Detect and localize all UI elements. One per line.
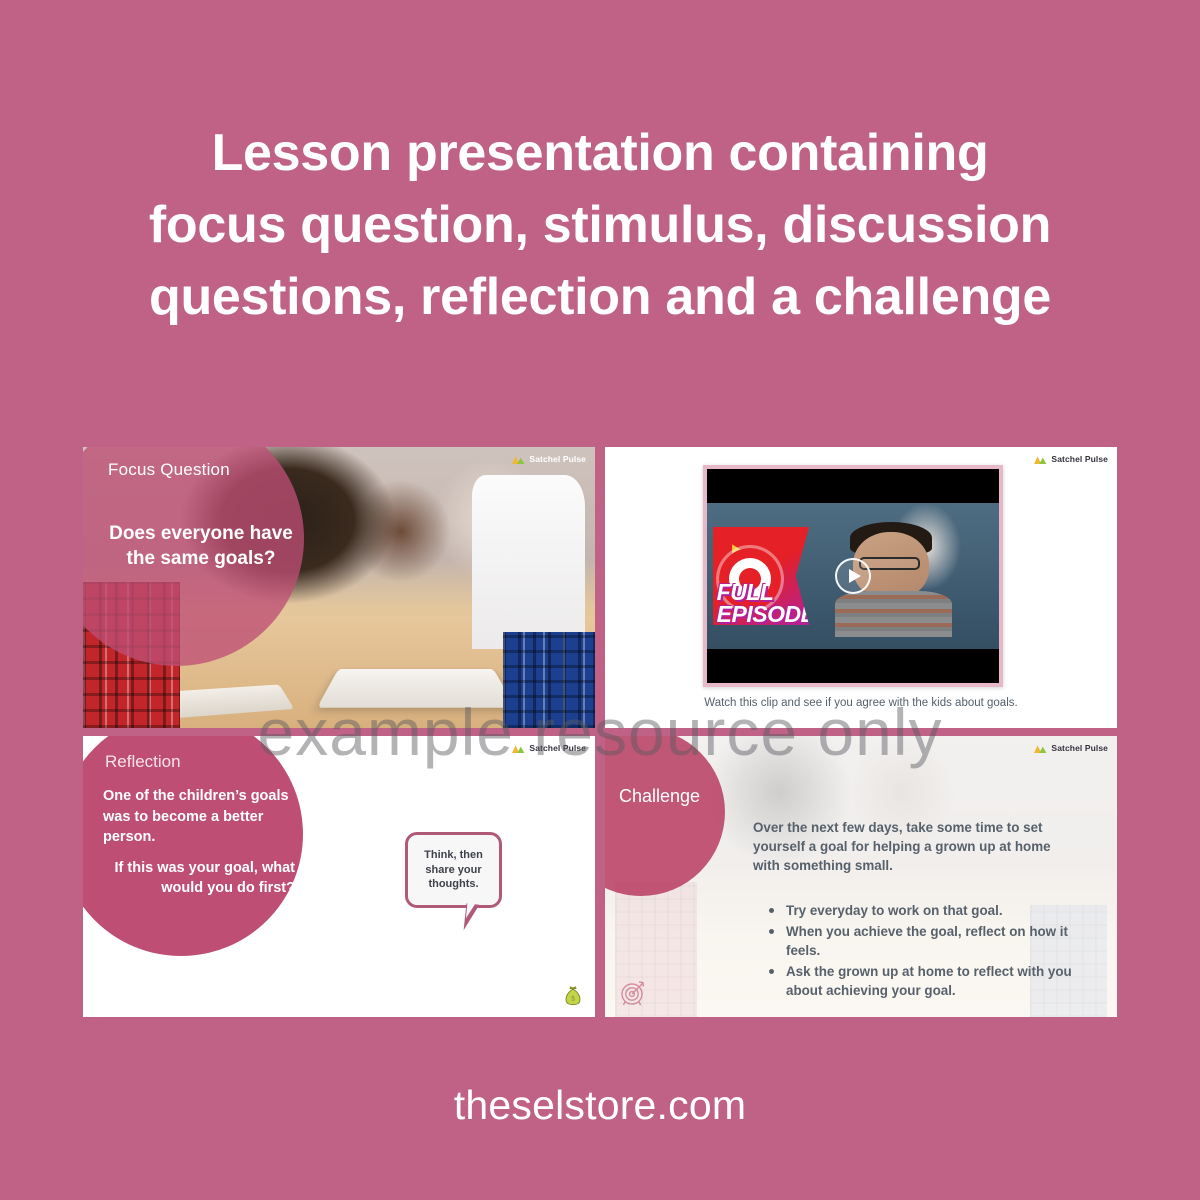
video-player[interactable]: FULL EPISODE (703, 465, 1003, 687)
slide-gallery: Focus Question Does everyone have the sa… (83, 447, 1117, 1025)
mountain-triangles-icon (512, 455, 525, 464)
thought-bubble: Think, then share your thoughts. (405, 832, 502, 908)
open-book (317, 669, 515, 708)
mountain-triangles-icon (512, 744, 525, 753)
slide-stimulus-video[interactable]: Satchel Pulse FULL (605, 447, 1117, 728)
plaid-skirt-right (503, 632, 595, 728)
page-title-line-1: Lesson presentation containing (90, 118, 1110, 190)
reflection-paragraph-2: If this was your goal, what would you do… (103, 858, 295, 899)
mountain-triangles-icon (1034, 455, 1047, 464)
satchel-pulse-logo: Satchel Pulse (512, 743, 586, 753)
full-episode-label: FULL EPISODE (717, 582, 816, 626)
page-title-line-2: focus question, stimulus, discussion (90, 190, 1110, 262)
slide-label-challenge: Challenge (619, 786, 700, 807)
list-item: Try everyday to work on that goal. (765, 901, 1083, 920)
challenge-paragraph: Over the next few days, take some time t… (753, 818, 1075, 875)
thought-bubble-text: Think, then share your thoughts. (408, 848, 499, 893)
full-episode-line-2: EPISODE (717, 604, 816, 626)
page-title-line-3: questions, reflection and a challenge (90, 262, 1110, 334)
slide-label-reflection: Reflection (105, 752, 181, 772)
challenge-bullet-list: Try everyday to work on that goal. When … (765, 901, 1083, 1002)
child-sweater (835, 591, 952, 638)
footer-website: theselstore.com (0, 1082, 1200, 1129)
logo-text: Satchel Pulse (529, 454, 586, 464)
satchel-pulse-logo: Satchel Pulse (1034, 454, 1108, 464)
logo-text: Satchel Pulse (1051, 743, 1108, 753)
mountain-triangles-icon (1034, 744, 1047, 753)
reflection-body: One of the children’s goals was to becom… (103, 786, 295, 899)
focus-question-text: Does everyone have the same goals? (101, 521, 301, 571)
video-caption: Watch this clip and see if you agree wit… (605, 697, 1117, 709)
money-bag-icon: $ (563, 984, 583, 1008)
slide-reflection[interactable]: Reflection One of the children’s goals w… (83, 736, 595, 1017)
slide-label-focus-question: Focus Question (108, 460, 230, 480)
video-thumbnail: FULL EPISODE (707, 469, 999, 683)
thought-bubble-tail (464, 903, 480, 931)
logo-text: Satchel Pulse (529, 743, 586, 753)
list-item: When you achieve the goal, reflect on ho… (765, 922, 1083, 960)
slide-challenge[interactable]: Challenge Over the next few days, take s… (605, 736, 1117, 1017)
target-dart-icon (619, 979, 649, 1007)
slide-focus-question[interactable]: Focus Question Does everyone have the sa… (83, 447, 595, 728)
logo-text: Satchel Pulse (1051, 454, 1108, 464)
play-triangle-icon[interactable] (835, 558, 871, 594)
cbc-badge: FULL EPISODE (713, 527, 809, 626)
reflection-paragraph-1: One of the children’s goals was to becom… (103, 786, 295, 848)
list-item: Ask the grown up at home to reflect with… (765, 962, 1083, 1000)
satchel-pulse-logo: Satchel Pulse (512, 454, 586, 464)
student-shirt (472, 475, 585, 649)
satchel-pulse-logo: Satchel Pulse (1034, 743, 1108, 753)
page-title: Lesson presentation containing focus que… (90, 118, 1110, 333)
